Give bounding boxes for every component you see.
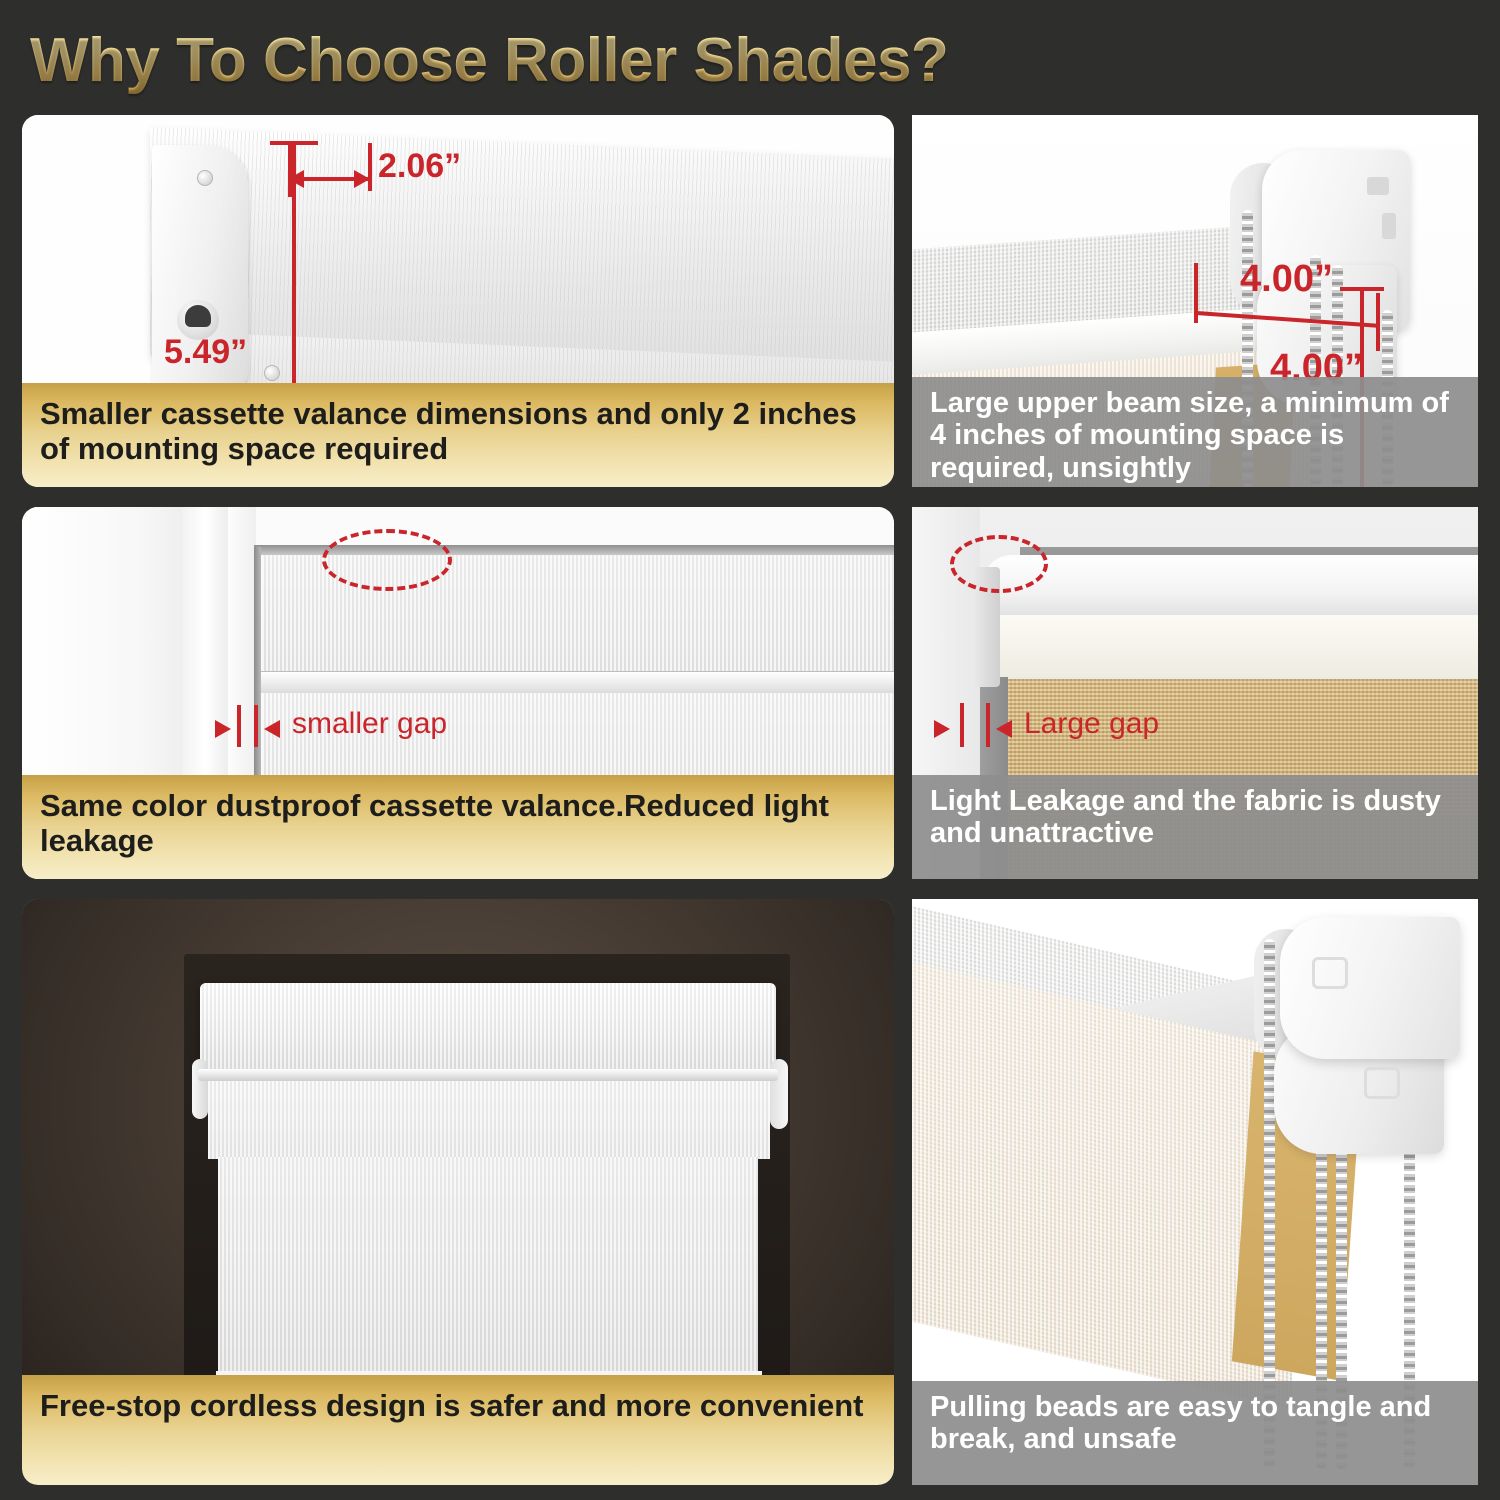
valance-knob-slot xyxy=(185,305,211,327)
dim-label-height: 5.49” xyxy=(164,333,247,372)
comparison-grid: 2.06” 5.49” Smaller cassette valance dim… xyxy=(22,115,1478,1485)
panel-dustproof-cassette: smaller gap Same color dustproof cassett… xyxy=(22,507,894,879)
panel-4-caption: Light Leakage and the fabric is dusty an… xyxy=(912,775,1478,879)
dim-label-width: 4.00” xyxy=(1240,258,1333,301)
dim-label-width: 2.06” xyxy=(378,147,461,186)
dim-tick-top xyxy=(1340,287,1384,291)
gap-arrow-left xyxy=(996,720,1012,738)
page-header: Why To Choose Roller Shades? xyxy=(30,20,1470,100)
panel-3-caption: Same color dustproof cassette valance.Re… xyxy=(22,775,894,879)
gap-tick-left xyxy=(960,703,964,747)
dim-tick-right xyxy=(1376,293,1380,351)
screw-icon xyxy=(197,170,213,186)
gap-tick-right xyxy=(986,703,990,747)
shade-main-panel xyxy=(218,1157,758,1377)
panel-light-leakage: Large gap Light Leakage and the fabric i… xyxy=(912,507,1478,879)
valance-lip xyxy=(198,1069,778,1081)
shade-valance-lower xyxy=(998,615,1478,677)
gap-tick-left xyxy=(237,705,241,747)
shade-upper-panel xyxy=(208,1079,770,1159)
panel-pulling-beads: Pulling beads are easy to tangle and bre… xyxy=(912,899,1478,1485)
dim-arrow-left xyxy=(288,170,304,188)
shade-valance xyxy=(982,555,1478,617)
bracket-slot xyxy=(1382,213,1396,239)
cassette-valance xyxy=(200,983,776,1073)
gap-arrow-right xyxy=(934,720,950,738)
shade-mid-bar xyxy=(258,671,894,693)
panel-smaller-cassette: 2.06” 5.49” Smaller cassette valance dim… xyxy=(22,115,894,487)
bracket-emblem xyxy=(1364,1067,1400,1099)
page-title: Why To Choose Roller Shades? xyxy=(30,25,948,96)
panel-2-caption: Large upper beam size, a minimum of 4 in… xyxy=(912,377,1478,487)
dim-arrow-right xyxy=(354,170,370,188)
dim-tick-top xyxy=(270,141,318,145)
panel-5-caption: Free-stop cordless design is safer and m… xyxy=(22,1375,894,1485)
panel-cordless-design: Free-stop cordless design is safer and m… xyxy=(22,899,894,1485)
highlight-ellipse xyxy=(322,529,452,591)
gap-arrow-left xyxy=(264,720,280,738)
gap-tick-right xyxy=(254,705,258,747)
highlight-ellipse xyxy=(950,535,1048,593)
panel-6-caption: Pulling beads are easy to tangle and bre… xyxy=(912,1381,1478,1485)
bracket-slot xyxy=(1367,177,1389,195)
screw-icon xyxy=(264,365,280,381)
mounting-bracket-upper xyxy=(1280,917,1460,1059)
bracket-emblem xyxy=(1312,957,1348,989)
panel-large-upper-beam: 4.00” 4.00” Large upper beam size, a min… xyxy=(912,115,1478,487)
gap-label: smaller gap xyxy=(292,707,447,741)
shade-end-cap-left xyxy=(192,1059,208,1119)
panel-1-caption: Smaller cassette valance dimensions and … xyxy=(22,383,894,487)
gap-arrow-right xyxy=(215,720,231,738)
gap-label: Large gap xyxy=(1024,707,1159,741)
